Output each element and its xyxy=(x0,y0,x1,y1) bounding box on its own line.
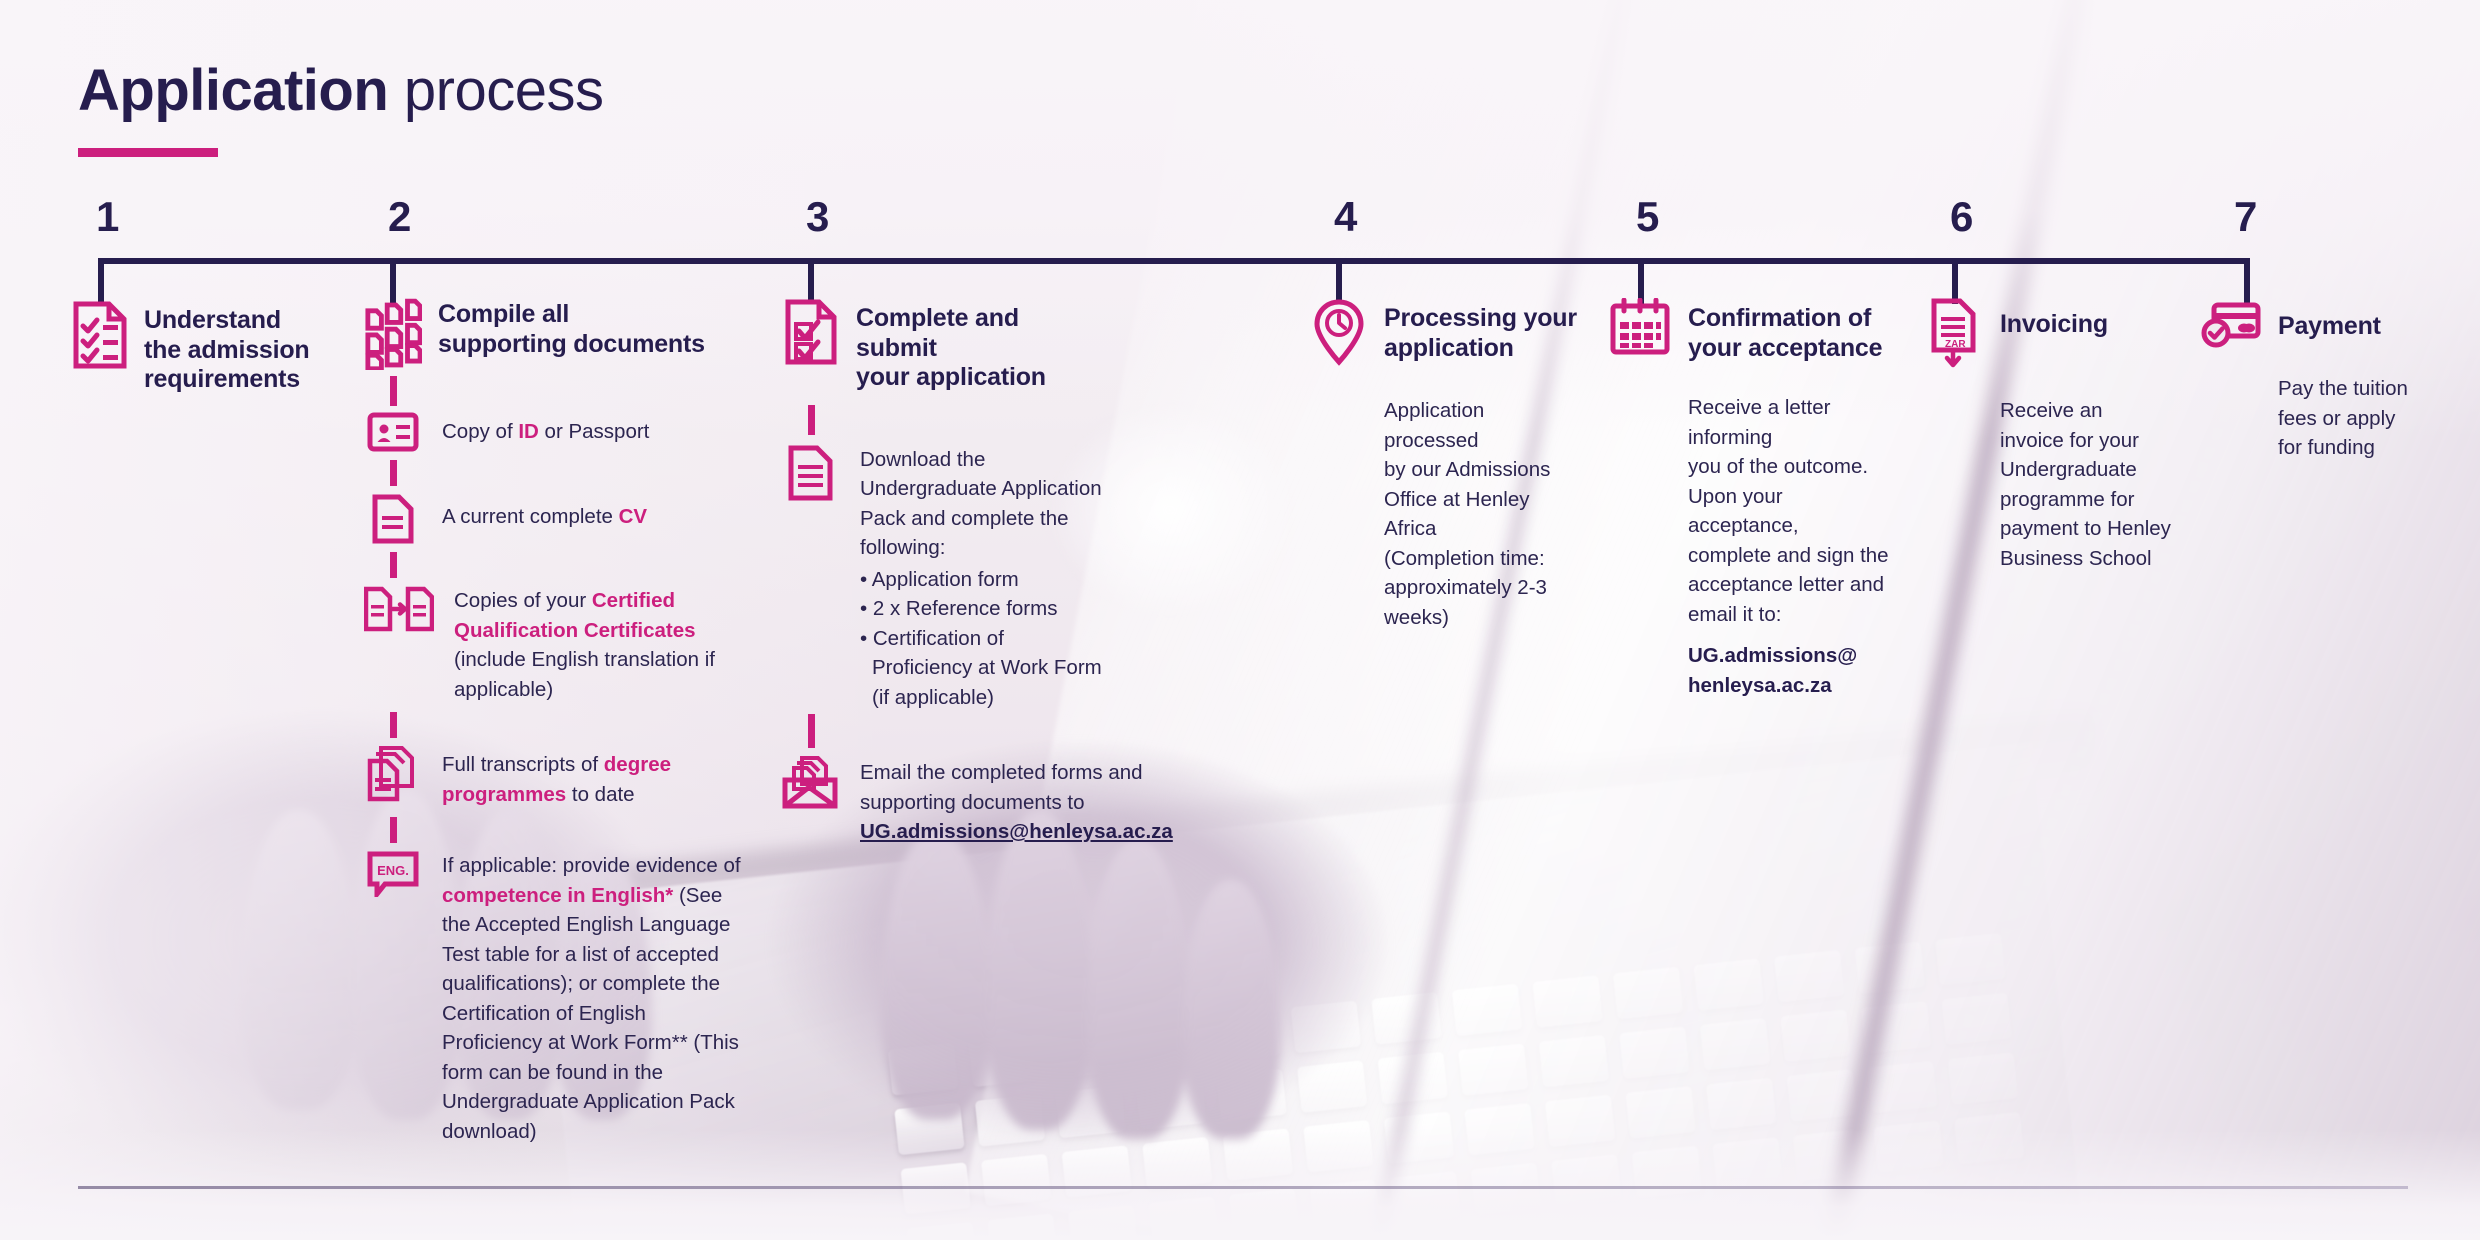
step-5-body-line-6: email it to: xyxy=(1688,600,1898,630)
step-3-sub-item-1-text: Download the Undergraduate Application P… xyxy=(860,445,1102,713)
step-5-title: Confirmation of your acceptance xyxy=(1688,298,1882,363)
step-3-sub-item-1: Download the Undergraduate Application P… xyxy=(782,445,1102,713)
step-4-body-line-1: Application processed xyxy=(1384,396,1580,455)
step-2: Compile all supporting documents Copy of… xyxy=(364,298,744,1146)
document-checklist-icon xyxy=(72,300,128,375)
lined-document-icon xyxy=(782,445,840,501)
txt-em: competence in English* xyxy=(442,884,673,907)
step-number-4: 4 xyxy=(1334,196,1357,238)
step-3-title-line-2: your application xyxy=(856,363,1102,393)
step-6-body-line-5: payment to Henley xyxy=(2000,514,2176,544)
step-2-title-line-1: Compile all xyxy=(438,300,705,330)
step-7-body-line-1: Pay the tuition xyxy=(2278,374,2430,404)
step-5-body-line-3: Upon your acceptance, xyxy=(1688,482,1898,541)
step-3: Complete and submit your application Dow… xyxy=(782,298,1102,847)
step-number-6: 6 xyxy=(1950,196,1973,238)
step-7-body-line-3: for funding xyxy=(2278,433,2430,463)
step-2-sub-item-3: Copies of your Certified Qualification C… xyxy=(364,586,744,704)
step-2-title: Compile all supporting documents xyxy=(438,298,705,359)
step-4-body: Application processed by our Admissions … xyxy=(1384,396,1580,632)
txt: (See the Accepted English Language Test … xyxy=(442,884,739,1143)
connector-dash xyxy=(808,405,815,435)
step-2-title-line-2: supporting documents xyxy=(438,330,705,360)
step-5-body-line-1: Receive a letter informing xyxy=(1688,393,1898,452)
step-6: ZAR Invoicing Receive an invoice for you… xyxy=(1926,298,2176,573)
step-4-title-line-1: Processing your xyxy=(1384,304,1577,334)
connector-dash xyxy=(390,376,397,406)
step-6-body: Receive an invoice for your Undergraduat… xyxy=(2000,396,2176,573)
txt: Full transcripts of xyxy=(442,753,604,776)
txt-em: CV xyxy=(619,505,647,528)
txt: If applicable: provide evidence of xyxy=(442,854,741,877)
timeline-tick-1 xyxy=(98,258,104,304)
step-number-2: 2 xyxy=(388,196,411,238)
txt: (include English translation if applicab… xyxy=(454,648,715,701)
transcripts-stack-icon xyxy=(364,746,422,802)
admissions-email-link[interactable]: UG.admissions@henleysa.ac.za xyxy=(860,820,1173,843)
txt: or Passport xyxy=(539,420,650,443)
step-3-bullet-list: • Application form • 2 x Reference forms… xyxy=(860,565,1102,713)
step-5-email-line-1[interactable]: UG.admissions@ xyxy=(1688,641,1898,671)
step-4-title: Processing your application xyxy=(1384,298,1577,363)
step-5-email-line-2[interactable]: henleysa.ac.za xyxy=(1688,671,1898,701)
txt-em: ID xyxy=(518,420,539,443)
txt: A current complete xyxy=(442,505,619,528)
step-3-sub-item-2-text: Email the completed forms and supporting… xyxy=(860,756,1173,847)
step-4-title-line-2: application xyxy=(1384,334,1577,364)
step-4-body-line-2: by our Admissions xyxy=(1384,455,1580,485)
step-3-bullet-3: • Certification of Proficiency at Work F… xyxy=(860,624,1102,713)
location-pin-clock-icon xyxy=(1310,298,1368,366)
page-title-bold: Application xyxy=(78,58,388,123)
step-4-body-line-3: Office at Henley Africa xyxy=(1384,485,1580,544)
step-2-sub-item-1: Copy of ID or Passport xyxy=(364,412,744,452)
step-3-title-line-1: Complete and submit xyxy=(856,304,1102,363)
txt: Copies of your xyxy=(454,589,592,612)
step-7: Payment Pay the tuition fees or apply fo… xyxy=(2200,300,2430,463)
step-4: Processing your application Application … xyxy=(1310,298,1580,632)
step-number-5: 5 xyxy=(1636,196,1659,238)
step-7-body: Pay the tuition fees or apply for fundin… xyxy=(2278,374,2430,463)
invoice-zar-download-icon: ZAR xyxy=(1926,298,1984,370)
step-3-email-lead: Email the completed forms and supporting… xyxy=(860,758,1173,817)
step-1: Understand the admission requirements xyxy=(72,300,362,395)
step-5-body: Receive a letter informing you of the ou… xyxy=(1688,393,1898,700)
step-7-title: Payment xyxy=(2278,300,2381,342)
timeline-bar xyxy=(98,258,2250,264)
credit-card-check-icon xyxy=(2200,300,2262,352)
step-number-7: 7 xyxy=(2234,196,2257,238)
connector-dash xyxy=(808,714,815,748)
step-1-title: Understand the admission requirements xyxy=(144,300,310,395)
connector-dash xyxy=(390,712,397,738)
step-5: Confirmation of your acceptance Receive … xyxy=(1608,298,1898,700)
step-6-body-line-3: Undergraduate xyxy=(2000,455,2176,485)
footer-rule xyxy=(78,1186,2408,1189)
step-2-sub-item-4-text: Full transcripts of degree programmes to… xyxy=(442,746,744,809)
step-number-3: 3 xyxy=(806,196,829,238)
step-4-body-line-6: weeks) xyxy=(1384,603,1580,633)
step-6-body-line-2: invoice for your xyxy=(2000,426,2176,456)
step-5-body-line-4: complete and sign the xyxy=(1688,541,1898,571)
step-6-body-line-4: programme for xyxy=(2000,485,2176,515)
invoice-currency-label: ZAR xyxy=(1945,339,1966,350)
step-2-sub-item-3-text: Copies of your Certified Qualification C… xyxy=(454,586,744,704)
step-2-sub-item-2: A current complete CV xyxy=(364,494,744,544)
id-card-icon xyxy=(364,412,422,452)
document-checkbox-icon xyxy=(782,298,840,366)
step-4-body-line-5: approximately 2-3 xyxy=(1384,573,1580,603)
cv-document-icon xyxy=(364,494,422,544)
txt: Copy of xyxy=(442,420,518,443)
open-envelope-documents-icon xyxy=(782,756,840,810)
step-7-body-line-2: fees or apply xyxy=(2278,404,2430,434)
step-6-body-line-1: Receive an xyxy=(2000,396,2176,426)
step-2-sub-item-4: Full transcripts of degree programmes to… xyxy=(364,746,744,809)
step-5-body-line-5: acceptance letter and xyxy=(1688,570,1898,600)
step-1-title-line-1: Understand xyxy=(144,306,310,336)
step-6-title: Invoicing xyxy=(2000,298,2108,340)
connector-dash xyxy=(390,817,397,843)
timeline-tick-7 xyxy=(2244,258,2250,304)
english-speech-bubble-icon: ENG. xyxy=(364,851,422,897)
step-3-bullet-1: • Application form xyxy=(860,565,1102,595)
step-2-sub-item-5-text: If applicable: provide evidence of compe… xyxy=(442,851,744,1146)
title-underline-rule xyxy=(78,148,218,157)
page-title: Application process xyxy=(78,62,603,120)
step-5-title-line-1: Confirmation of xyxy=(1688,304,1882,334)
step-3-title: Complete and submit your application xyxy=(856,298,1102,393)
step-4-body-line-4: (Completion time: xyxy=(1384,544,1580,574)
step-3-sub-item-2: Email the completed forms and supporting… xyxy=(782,756,1102,847)
txt: to date xyxy=(566,783,634,806)
calendar-icon xyxy=(1608,298,1672,356)
step-2-sub-item-2-text: A current complete CV xyxy=(442,494,647,532)
page-title-light: process xyxy=(388,58,603,123)
connector-dash xyxy=(390,460,397,486)
english-icon-label: ENG. xyxy=(377,863,409,878)
step-5-body-line-2: you of the outcome. xyxy=(1688,452,1898,482)
step-6-title-line-1: Invoicing xyxy=(2000,310,2108,340)
step-3-bullet-2: • 2 x Reference forms xyxy=(860,594,1102,624)
step-1-title-line-2: the admission xyxy=(144,336,310,366)
certified-copies-icon xyxy=(364,586,434,632)
step-2-sub-item-5: ENG. If applicable: provide evidence of … xyxy=(364,851,744,1146)
step-3-download-lead: Download the Undergraduate Application P… xyxy=(860,445,1102,563)
step-7-title-line-1: Payment xyxy=(2278,312,2381,342)
document-grid-icon xyxy=(364,298,422,370)
connector-dash xyxy=(390,552,397,578)
step-number-1: 1 xyxy=(96,196,119,238)
step-6-body-line-6: Business School xyxy=(2000,544,2176,574)
step-5-title-line-2: your acceptance xyxy=(1688,334,1882,364)
step-1-title-line-3: requirements xyxy=(144,365,310,395)
step-2-sub-item-1-text: Copy of ID or Passport xyxy=(442,412,649,447)
